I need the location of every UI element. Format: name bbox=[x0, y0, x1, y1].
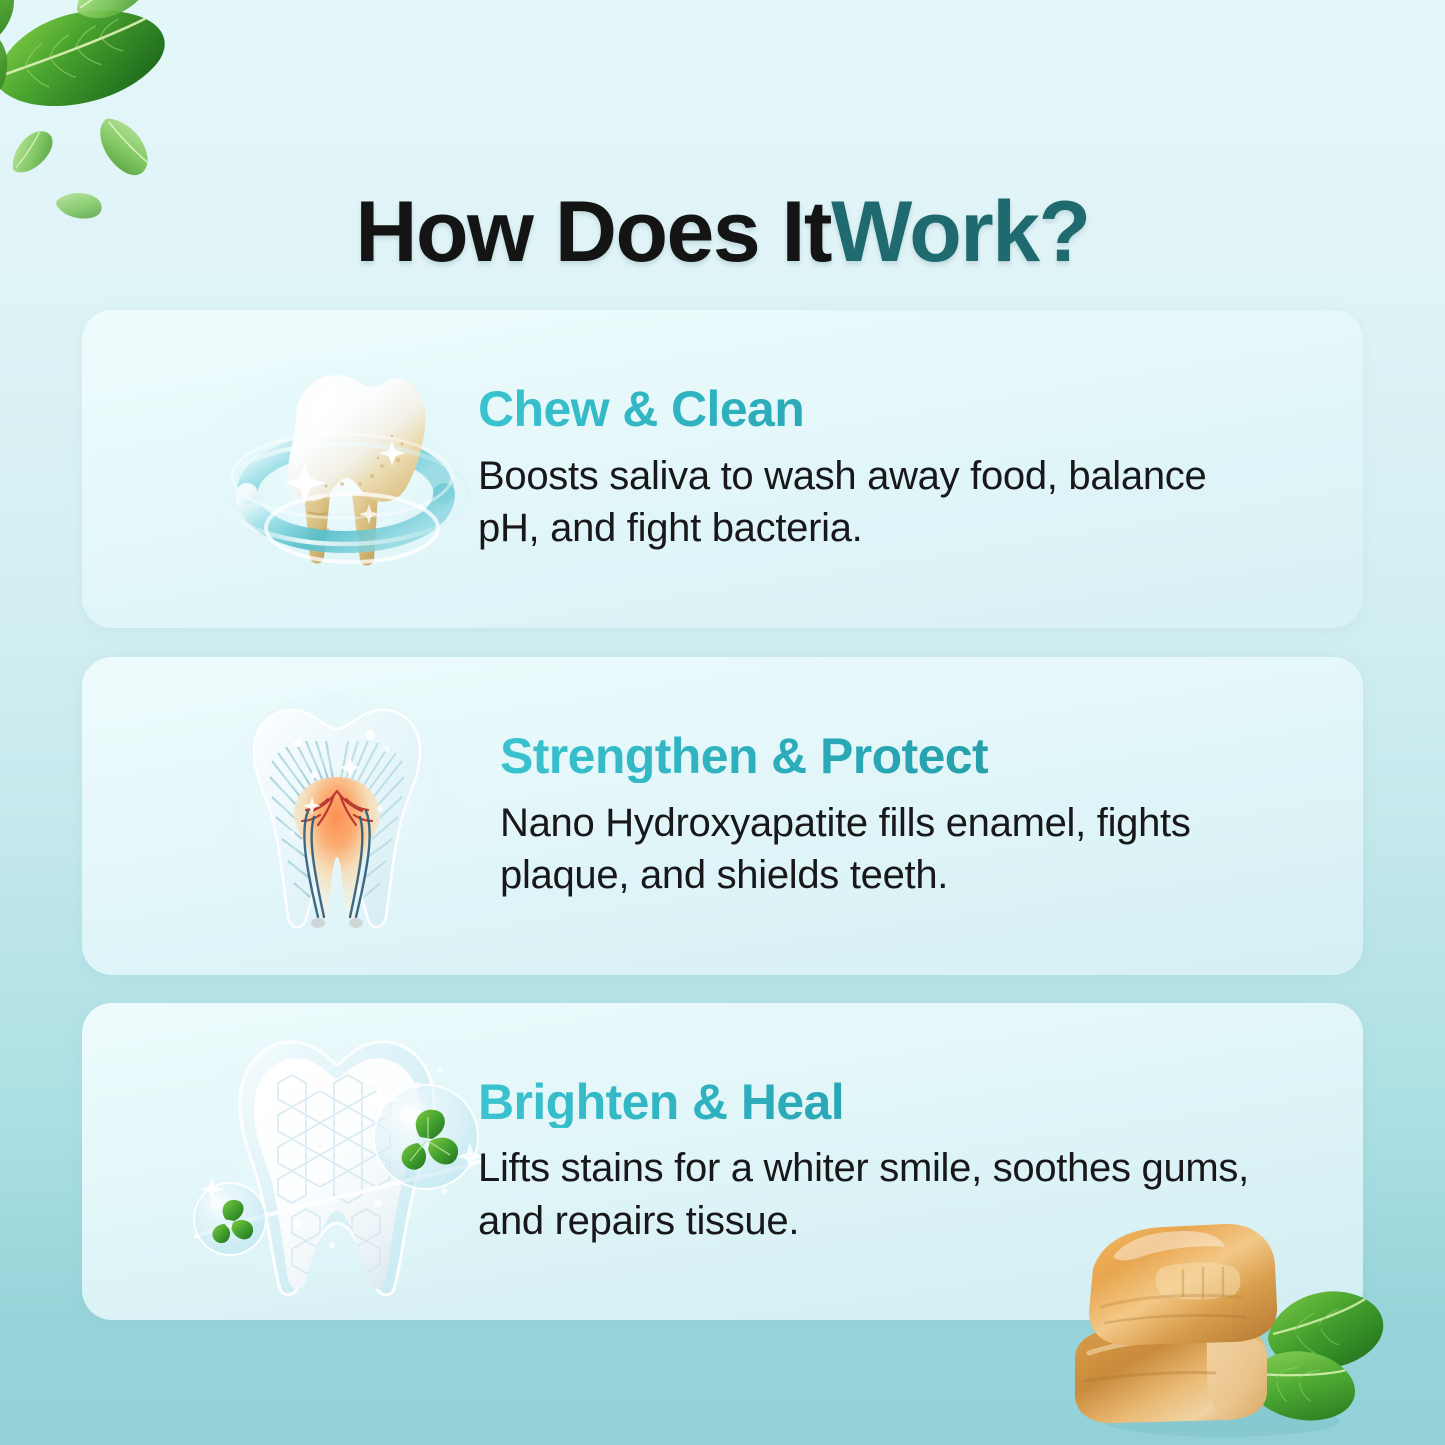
infographic-page: How Does ItWork? bbox=[0, 0, 1445, 1445]
card-description: Nano Hydroxyapatite fills enamel, fights… bbox=[500, 796, 1303, 902]
white-tooth-shield-illustration bbox=[182, 1027, 492, 1297]
tooth-cross-section-illustration bbox=[202, 691, 472, 941]
page-title: How Does ItWork? bbox=[0, 131, 1445, 332]
card-text-block: Brighten & Heal Lifts stains for a white… bbox=[478, 1075, 1303, 1247]
card-heading: Strengthen & Protect bbox=[500, 730, 1303, 783]
page-title-accent: Work? bbox=[831, 184, 1089, 280]
card-heading: Brighten & Heal bbox=[478, 1075, 1303, 1128]
card-heading: Chew & Clean bbox=[478, 383, 1303, 436]
tooth-with-swirl-ring-illustration bbox=[192, 344, 492, 594]
card-text-block: Chew & Clean Boosts saliva to wash away … bbox=[478, 383, 1303, 555]
feature-card-brighten-heal[interactable]: Brighten & Heal Lifts stains for a white… bbox=[82, 1003, 1363, 1320]
card-description: Boosts saliva to wash away food, balance… bbox=[478, 449, 1278, 555]
card-description: Lifts stains for a whiter smile, soothes… bbox=[478, 1142, 1278, 1248]
page-title-text: How Does ItWork? bbox=[355, 189, 1089, 275]
page-title-plain: How Does It bbox=[355, 184, 831, 280]
feature-card-chew-clean[interactable]: Chew & Clean Boosts saliva to wash away … bbox=[82, 310, 1363, 628]
feature-card-strengthen-protect[interactable]: Strengthen & Protect Nano Hydroxyapatite… bbox=[82, 657, 1363, 975]
card-text-block: Strengthen & Protect Nano Hydroxyapatite… bbox=[500, 730, 1303, 902]
